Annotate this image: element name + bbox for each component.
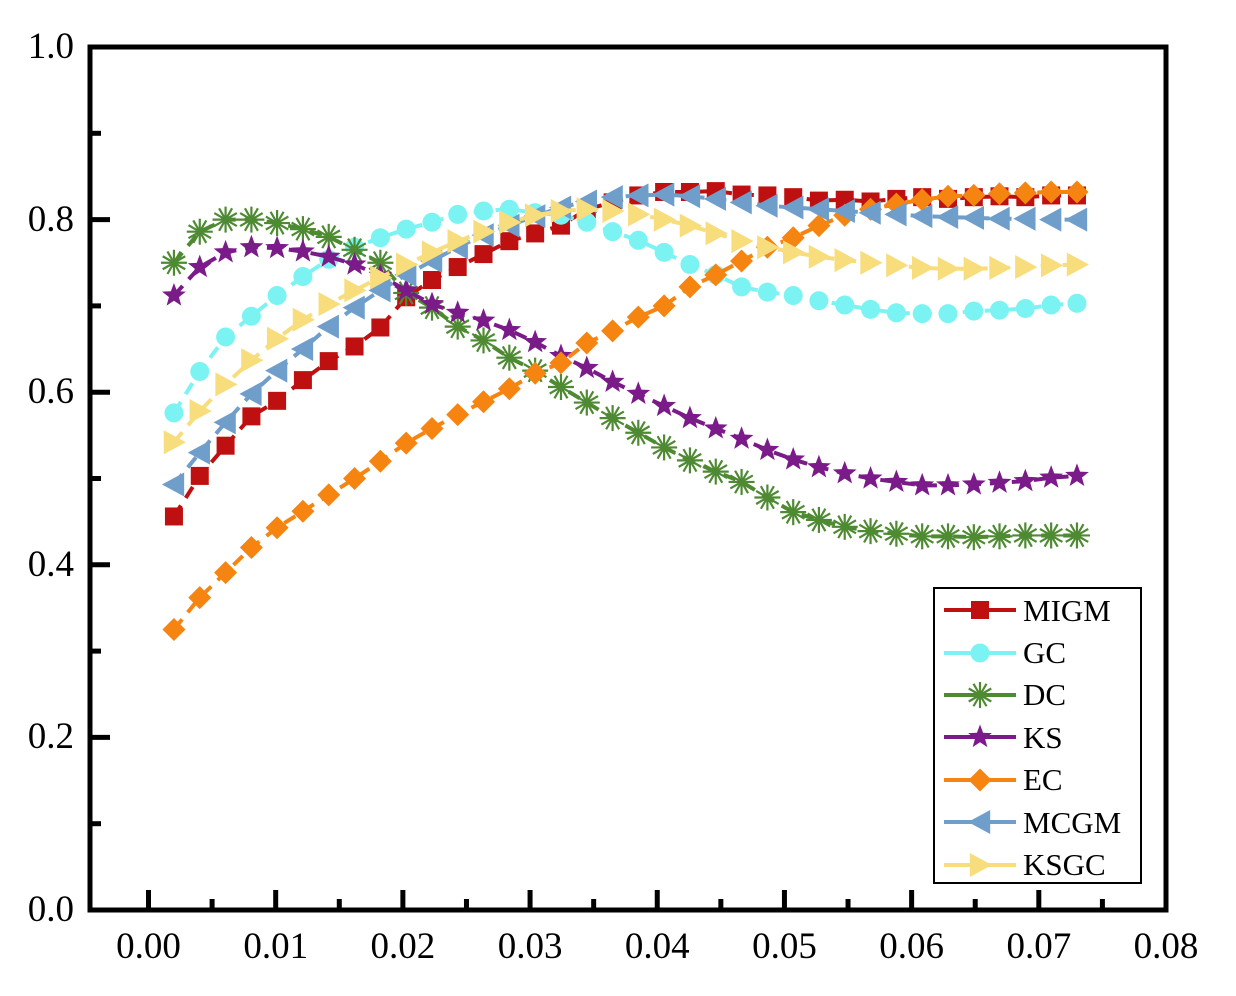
legend-marker-shape — [969, 768, 992, 791]
x-axis-tick-label: 0.01 — [206, 928, 346, 965]
data-point-marker — [213, 207, 239, 233]
data-point-marker — [1039, 208, 1061, 232]
legend-item-ks[interactable]: KS — [935, 716, 1140, 758]
legend-marker — [968, 725, 992, 748]
data-point-marker — [320, 352, 338, 370]
data-point-marker — [989, 256, 1011, 280]
x-axis-tick-label: 0.00 — [79, 928, 219, 965]
data-point-marker — [1064, 522, 1090, 548]
x-axis-tick-label: 0.06 — [842, 928, 982, 965]
data-point-marker — [601, 369, 625, 392]
data-point-marker — [678, 406, 702, 429]
x-axis-tick-label: 0.05 — [714, 928, 854, 965]
data-point-marker — [988, 207, 1010, 231]
legend-item-ksgc[interactable]: KSGC — [935, 843, 1140, 885]
data-point-marker — [242, 407, 260, 425]
y-axis-tick-label: 0.8 — [0, 201, 74, 238]
data-point-marker — [294, 371, 312, 389]
data-point-marker — [677, 447, 703, 473]
legend-swatch-dc-icon — [943, 680, 1017, 710]
legend-marker-shape — [968, 810, 990, 834]
data-point-marker — [1065, 208, 1087, 232]
data-point-marker — [758, 283, 777, 302]
data-point-marker — [910, 473, 934, 496]
data-point-marker — [809, 291, 828, 310]
data-point-marker — [652, 394, 676, 417]
data-point-marker — [887, 303, 906, 322]
series-line — [174, 209, 1077, 442]
data-point-marker — [780, 499, 806, 525]
x-axis-tick-label: 0.07 — [969, 928, 1109, 965]
data-point-marker — [600, 405, 626, 431]
data-point-marker — [240, 536, 263, 559]
data-point-marker — [475, 245, 493, 263]
data-point-marker — [1039, 465, 1063, 488]
data-point-marker — [913, 304, 932, 323]
data-point-marker — [369, 450, 392, 473]
legend-swatch-gc-icon — [943, 638, 1017, 668]
data-point-marker — [291, 337, 313, 361]
data-point-marker — [781, 447, 805, 470]
legend-label: MCGM — [1023, 807, 1121, 838]
legend-marker — [967, 682, 993, 708]
data-point-marker — [319, 292, 341, 316]
data-point-marker — [912, 256, 934, 280]
data-point-marker — [291, 239, 315, 262]
data-point-marker — [1012, 522, 1038, 548]
data-point-marker — [290, 216, 316, 242]
data-point-marker — [526, 224, 544, 242]
data-point-marker — [936, 205, 958, 229]
data-point-marker — [472, 390, 495, 413]
data-point-marker — [343, 467, 366, 490]
legend-swatch-ec-icon — [943, 765, 1017, 795]
data-point-marker — [858, 518, 884, 544]
legend-item-dc[interactable]: DC — [935, 674, 1140, 716]
legend-marker — [970, 853, 992, 877]
data-point-marker — [654, 208, 676, 232]
data-point-marker — [242, 307, 261, 326]
data-point-marker — [423, 271, 441, 289]
x-axis-tick-label: 0.08 — [1096, 928, 1236, 965]
data-point-marker — [241, 348, 263, 372]
data-point-marker — [962, 472, 986, 495]
legend-marker — [971, 601, 989, 619]
chart-figure: MIGMGCDCKSECMCGMKSGC 0.00.20.40.60.81.00… — [0, 0, 1236, 996]
data-point-marker — [214, 240, 238, 263]
data-point-marker — [706, 221, 728, 245]
data-point-marker — [730, 250, 753, 273]
y-axis-tick-label: 1.0 — [0, 28, 74, 65]
data-point-marker — [704, 263, 727, 286]
data-point-marker — [346, 337, 364, 355]
data-point-marker — [601, 319, 624, 342]
legend-label: GC — [1023, 637, 1066, 668]
data-point-marker — [627, 306, 650, 329]
legend-item-ec[interactable]: EC — [935, 759, 1140, 801]
data-point-marker — [832, 514, 858, 540]
data-point-marker — [268, 286, 287, 305]
data-point-marker — [603, 222, 622, 241]
data-point-marker — [730, 426, 754, 449]
legend-marker-shape — [970, 853, 992, 877]
data-point-marker — [165, 507, 183, 525]
series-line — [174, 192, 1077, 630]
data-point-marker — [217, 437, 235, 455]
legend-label: DC — [1023, 679, 1066, 710]
y-axis-tick-label: 0.2 — [0, 718, 74, 755]
data-point-marker — [861, 300, 880, 319]
y-axis-tick-label: 0.4 — [0, 546, 74, 583]
data-point-marker — [936, 473, 960, 496]
data-point-marker — [423, 213, 442, 232]
legend-marker-shape — [968, 725, 992, 748]
data-point-marker — [575, 356, 599, 379]
legend-swatch-migm-icon — [943, 595, 1017, 625]
data-point-marker — [784, 286, 803, 305]
data-point-marker — [162, 473, 184, 497]
data-point-marker — [964, 302, 983, 321]
x-axis-tick-label: 0.03 — [460, 928, 600, 965]
data-point-marker — [449, 258, 467, 276]
data-point-marker — [293, 267, 312, 286]
data-point-marker — [962, 206, 984, 230]
data-point-marker — [756, 438, 780, 461]
legend-swatch-mcgm-icon — [943, 807, 1017, 837]
data-point-marker — [806, 507, 832, 533]
data-point-marker — [651, 434, 677, 460]
data-point-marker — [496, 345, 522, 371]
data-point-marker — [498, 377, 521, 400]
data-point-marker — [754, 484, 780, 510]
data-point-marker — [678, 275, 701, 298]
data-point-marker — [523, 330, 547, 353]
legend-marker-shape — [971, 601, 989, 619]
legend-label: EC — [1023, 764, 1063, 795]
data-point-marker — [833, 461, 857, 484]
data-point-marker — [1038, 522, 1064, 548]
data-point-marker — [1067, 294, 1086, 313]
data-point-marker — [809, 245, 831, 269]
data-point-marker — [190, 362, 209, 381]
data-point-marker — [1042, 296, 1061, 315]
data-point-marker — [883, 521, 909, 547]
data-point-marker — [935, 523, 961, 549]
legend-item-mcgm[interactable]: MCGM — [935, 801, 1140, 843]
data-point-marker — [1067, 252, 1089, 276]
legend-marker — [969, 768, 992, 791]
data-point-marker — [268, 392, 286, 410]
legend-label: MIGM — [1023, 595, 1111, 626]
data-point-marker — [191, 467, 209, 485]
data-point-marker — [1015, 255, 1037, 279]
legend-item-migm[interactable]: MIGM — [935, 589, 1140, 631]
legend-item-gc[interactable]: GC — [935, 631, 1140, 673]
legend-swatch-ks-icon — [943, 722, 1017, 752]
data-point-marker — [835, 296, 854, 315]
data-point-marker — [909, 523, 935, 549]
data-point-marker — [629, 231, 648, 250]
data-point-marker — [1013, 207, 1035, 231]
data-point-marker — [240, 235, 264, 258]
data-point-marker — [1016, 299, 1035, 318]
data-point-marker — [216, 327, 235, 346]
data-point-marker — [238, 207, 264, 233]
data-point-marker — [474, 201, 493, 220]
data-point-marker — [265, 236, 289, 259]
data-point-marker — [293, 308, 315, 332]
data-point-marker — [625, 420, 651, 446]
data-point-marker — [939, 304, 958, 323]
data-point-marker — [1041, 253, 1063, 277]
data-point-marker — [704, 416, 728, 439]
data-point-marker — [988, 470, 1012, 493]
data-point-marker — [1065, 463, 1089, 486]
data-point-marker — [680, 214, 702, 238]
data-point-marker — [497, 318, 521, 341]
data-point-marker — [448, 205, 467, 224]
data-point-marker — [732, 277, 751, 296]
data-point-marker — [835, 248, 857, 272]
data-point-marker — [859, 466, 883, 489]
data-point-marker — [987, 523, 1013, 549]
data-point-marker — [990, 301, 1009, 320]
data-point-marker — [731, 229, 753, 253]
data-point-marker — [886, 253, 908, 277]
data-point-marker — [860, 251, 882, 275]
data-point-marker — [397, 220, 416, 239]
legend-marker-shape — [971, 643, 990, 662]
data-point-marker — [729, 469, 755, 495]
data-point-marker — [961, 524, 987, 550]
data-point-marker — [164, 403, 183, 422]
data-point-marker — [421, 417, 444, 440]
y-axis-tick-label: 0.0 — [0, 891, 74, 928]
data-point-marker — [472, 308, 496, 331]
data-point-marker — [655, 243, 674, 262]
legend-label: KS — [1023, 722, 1063, 753]
data-point-marker — [239, 382, 261, 406]
legend-label: KSGC — [1023, 849, 1106, 880]
data-point-marker — [626, 381, 650, 404]
data-point-marker — [680, 255, 699, 274]
data-point-marker — [264, 210, 290, 236]
y-axis-tick-label: 0.6 — [0, 373, 74, 410]
data-point-marker — [807, 455, 831, 478]
chart-legend: MIGMGCDCKSECMCGMKSGC — [933, 587, 1142, 884]
data-point-marker — [371, 228, 390, 247]
data-point-marker — [291, 500, 314, 523]
legend-marker — [971, 643, 990, 662]
data-point-marker — [703, 459, 729, 485]
data-point-marker — [938, 257, 960, 281]
data-point-marker — [884, 469, 908, 492]
legend-swatch-ksgc-icon — [943, 850, 1017, 880]
x-axis-tick-label: 0.04 — [587, 928, 727, 965]
data-point-marker — [446, 403, 469, 426]
data-point-marker — [1013, 469, 1037, 492]
data-point-marker — [317, 483, 340, 506]
data-point-marker — [371, 318, 389, 336]
legend-marker-shape — [967, 682, 993, 708]
legend-marker — [968, 810, 990, 834]
data-point-marker — [548, 374, 574, 400]
data-point-marker — [964, 257, 986, 281]
x-axis-tick-label: 0.02 — [333, 928, 473, 965]
data-point-marker — [574, 390, 600, 416]
data-point-marker — [471, 327, 497, 353]
